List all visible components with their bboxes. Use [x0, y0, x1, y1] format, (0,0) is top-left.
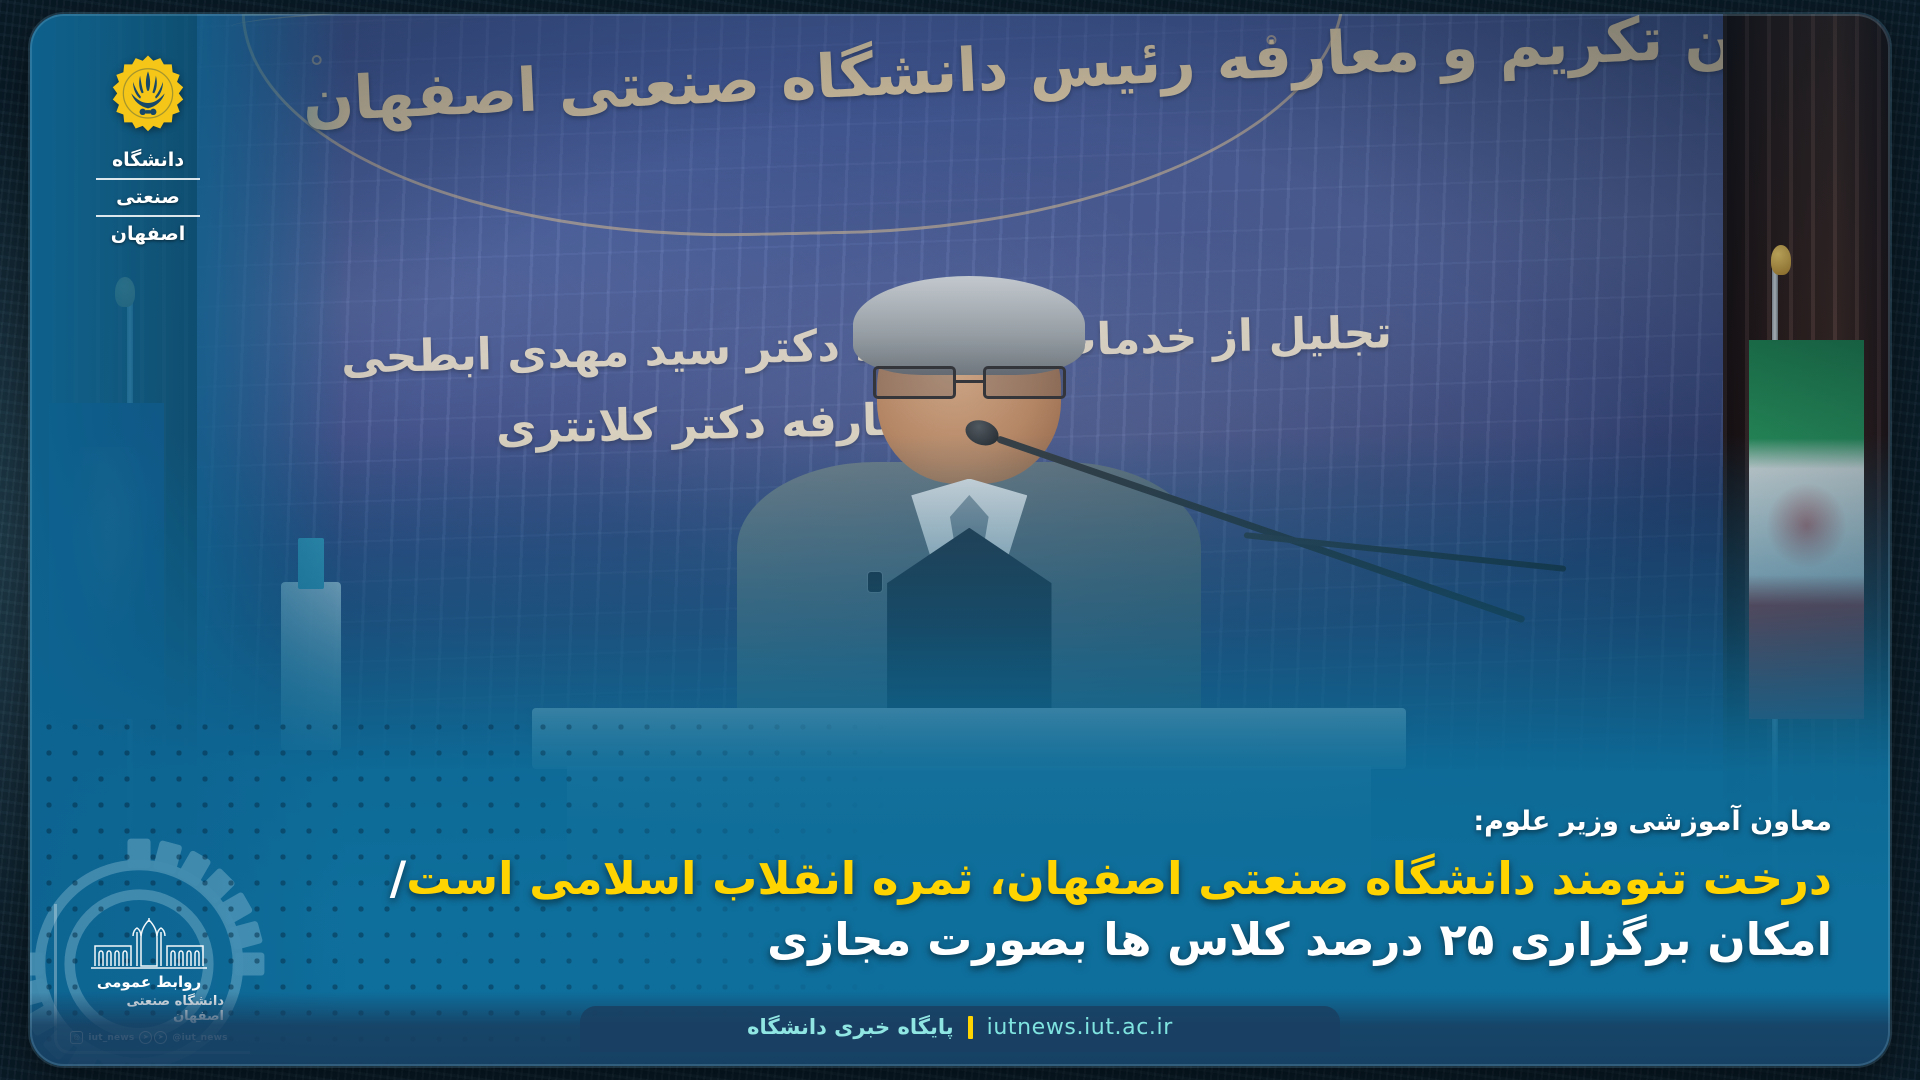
footer-bar: iutnews.iut.ac.ir پایگاه خبری دانشگاه — [30, 992, 1890, 1066]
name-divider-1 — [96, 178, 200, 180]
banner-stage: آئین تکریم و معارفه رئیس دانشگاه صنعتی ا… — [0, 0, 1920, 1080]
university-name-line-2: صنعتی — [116, 185, 180, 210]
news-portal-label: پایگاه خبری دانشگاه — [747, 1015, 954, 1039]
footer-content: iutnews.iut.ac.ir پایگاه خبری دانشگاه — [747, 1015, 1173, 1040]
headline-line-1: درخت تنومند دانشگاه صنعتی اصفهان، ثمره ا… — [150, 849, 1832, 909]
headline-line-2: امکان برگزاری ۲۵ درصد کلاس ها بصورت مجاز… — [150, 910, 1832, 970]
name-divider-2 — [96, 215, 200, 217]
headline-kicker: معاون آموزشی وزیر علوم: — [150, 804, 1832, 839]
news-site-url[interactable]: iutnews.iut.ac.ir — [987, 1015, 1173, 1040]
headline-slash: / — [390, 852, 406, 905]
university-name-line-1: دانشگاه — [112, 148, 184, 173]
university-identity: دانشگاه صنعتی اصفهان — [82, 52, 214, 247]
headline-block: معاون آموزشی وزیر علوم: درخت تنومند دانش… — [150, 804, 1832, 970]
pr-logo-title-1: روابط عمومی — [97, 973, 201, 991]
content-card: آئین تکریم و معارفه رئیس دانشگاه صنعتی ا… — [30, 14, 1890, 1066]
iut-emblem-icon — [104, 52, 192, 140]
headline-line-1-text: درخت تنومند دانشگاه صنعتی اصفهان، ثمره ا… — [406, 852, 1832, 905]
university-name: دانشگاه صنعتی اصفهان — [96, 148, 200, 247]
university-name-line-3: اصفهان — [111, 222, 185, 247]
footer-separator — [968, 1016, 973, 1039]
